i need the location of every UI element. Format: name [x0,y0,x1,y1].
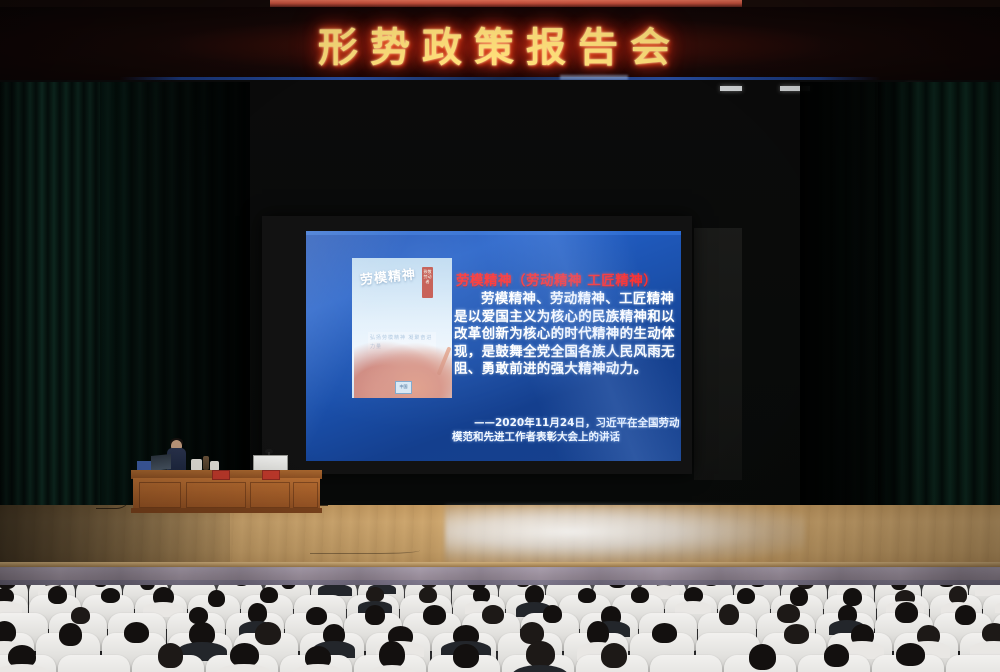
audience-person-head [526,641,555,667]
table-panel [139,482,181,508]
speaker-laptop [151,454,171,471]
auditorium-photo: 形势政策报告会 劳模精神 致敬劳动者 弘扬劳模精神 凝聚奋进力量 中国 [0,0,1000,672]
poster-calligraphy-text: 劳模精神 [359,267,426,325]
stage-cable [310,545,420,554]
slide-citation: ——2020年11月24日，习近平在全国劳动模范和先进工作者表彰大会上的讲话 [452,416,681,444]
slide-poster-image: 劳模精神 致敬劳动者 弘扬劳模精神 凝聚奋进力量 中国 [352,258,452,398]
audience-seat [650,655,722,672]
audience-person-head [737,588,755,604]
audience-person-head [784,624,809,644]
audience-person-head [896,643,925,666]
nameplate-left [212,470,230,480]
audience-person-shoulders [318,585,352,596]
led-banner: 形势政策报告会 [0,7,1000,80]
audience-person-head [631,587,649,603]
audience-person-head [982,623,1000,643]
table-panel [250,482,290,508]
audience-person-head [525,585,544,604]
audience-person-head [955,605,976,625]
audience-person-head [777,604,800,623]
banner-title-text: 形势政策报告会 [318,15,682,73]
audience-person-head [379,641,405,668]
audience-person-head [366,587,384,602]
audience-person-head [749,644,776,670]
audience-person-head [824,644,849,667]
audience-person-shoulders [675,601,711,614]
audience-person-head [652,623,677,643]
slide-body-text: 劳模精神、劳动精神、工匠精神是以爱国主义为核心的民族精神和以改革创新为核心的时代… [454,291,681,379]
audience-person-head [158,643,183,668]
audience-person-head [71,607,90,624]
banner-inner: 形势政策报告会 [175,14,825,74]
audience-person-head [260,587,278,603]
ceiling-light-strip [720,86,742,91]
tissue-box [137,461,151,470]
stage-cable [96,478,130,509]
audience-seat [58,655,130,672]
stage-curtain-right-shading [878,82,1000,518]
audience-person-head [140,585,155,590]
audience-person-head [255,622,281,645]
audience-person-head [543,605,562,623]
audience-area [0,585,1000,672]
slide-top-edge [306,231,681,235]
poster-badge: 中国 [395,381,412,394]
projection-screen: 劳模精神 致敬劳动者 弘扬劳模精神 凝聚奋进力量 中国 劳模精神（劳动精神 工匠… [306,231,681,461]
table-panel [293,482,318,508]
nameplate-right [262,470,280,480]
audience-person-head [48,586,67,604]
wall-panel-right [694,228,742,480]
audience-person-head [578,588,596,603]
audience-person-head [101,588,120,603]
audience-person-head [790,587,808,606]
audience-person-head [124,622,149,643]
audience-person-head [719,604,739,625]
statue-raised-arm [437,346,452,375]
audience-person-head [453,644,479,668]
speaker-table-base [131,508,322,513]
audience-person-head [0,621,16,643]
audience-person-head [59,623,82,646]
slide-title: 劳模精神（劳动精神 工匠精神） [456,269,681,289]
audience-person-head [365,605,385,625]
audience-person-head [601,643,627,668]
water-bottle [203,456,209,470]
poster-seal: 致敬劳动者 [422,267,433,298]
audience-person-head [843,588,862,606]
table-panel [186,482,246,508]
audience-person-shoulders [0,601,22,614]
audience-person-head [423,605,446,625]
audience-person-head [482,605,504,624]
stage-projector-light-pool [445,505,805,565]
audience-person-head [208,590,225,607]
audience-person-head [419,587,437,603]
audience-person-shoulders [975,585,1000,596]
stage-floor-shadow-left [0,505,230,567]
audience-person-head [306,607,327,625]
audience-seat [946,655,1000,672]
audience-person-head [895,602,918,623]
